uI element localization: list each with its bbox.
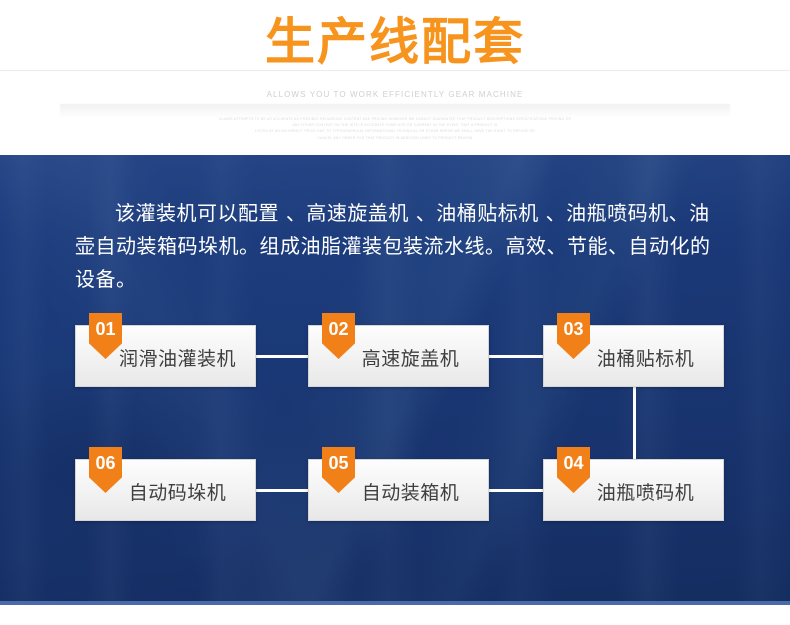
- flow-node-label-06: 自动码垛机: [76, 460, 257, 522]
- flow-node-label-01: 润滑油灌装机: [76, 326, 257, 388]
- flow-node-01[interactable]: 01 润滑油灌装机: [75, 325, 256, 387]
- page-footer: [0, 605, 790, 625]
- connector-02-03: [489, 355, 543, 358]
- flow-node-03[interactable]: 03 油桶贴标机: [543, 325, 724, 387]
- flow-node-06[interactable]: 06 自动码垛机: [75, 459, 256, 521]
- production-line-flow-diagram: 01 润滑油灌装机 02 高速旋盖机 03 油桶贴标机 04 油瓶喷码机 05 …: [0, 0, 790, 625]
- flow-node-label-05: 自动装箱机: [309, 460, 490, 522]
- connector-03-04: [633, 387, 636, 459]
- flow-node-02[interactable]: 02 高速旋盖机: [308, 325, 489, 387]
- flow-node-05[interactable]: 05 自动装箱机: [308, 459, 489, 521]
- flow-node-label-02: 高速旋盖机: [309, 326, 490, 388]
- flow-node-04[interactable]: 04 油瓶喷码机: [543, 459, 724, 521]
- flow-node-label-04: 油瓶喷码机: [544, 460, 725, 522]
- connector-04-05: [489, 489, 543, 492]
- connector-05-06: [256, 489, 308, 492]
- connector-01-02: [256, 355, 308, 358]
- flow-node-label-03: 油桶贴标机: [544, 326, 725, 388]
